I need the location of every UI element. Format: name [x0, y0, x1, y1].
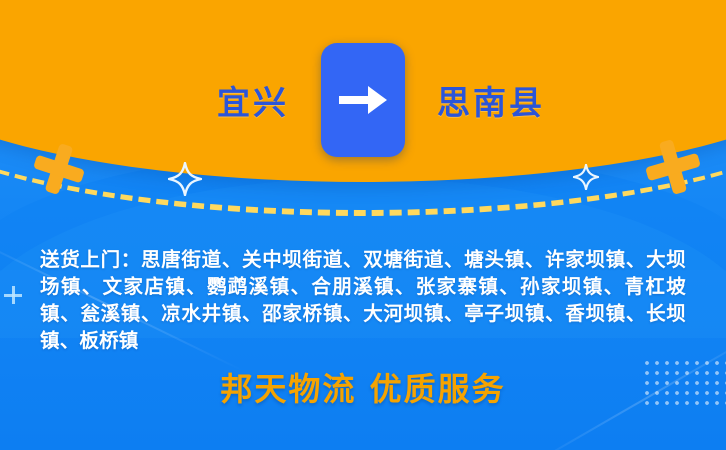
slogan-text: 邦天物流 优质服务	[0, 364, 726, 410]
arrow-right-icon	[321, 43, 405, 157]
destination-city-label: 思南县	[431, 76, 587, 124]
promo-banner: 宜兴 思南县 送货上门：思唐街道、关中坝街道、双塘街道、塘头镇、许家坝镇、大坝场…	[0, 0, 726, 450]
origin-city-label: 宜兴	[139, 76, 295, 124]
route-row: 宜兴 思南县	[0, 0, 726, 200]
plus-icon	[4, 286, 22, 304]
delivery-coverage-text: 送货上门：思唐街道、关中坝街道、双塘街道、塘头镇、许家坝镇、大坝场镇、文家店镇、…	[40, 246, 686, 354]
